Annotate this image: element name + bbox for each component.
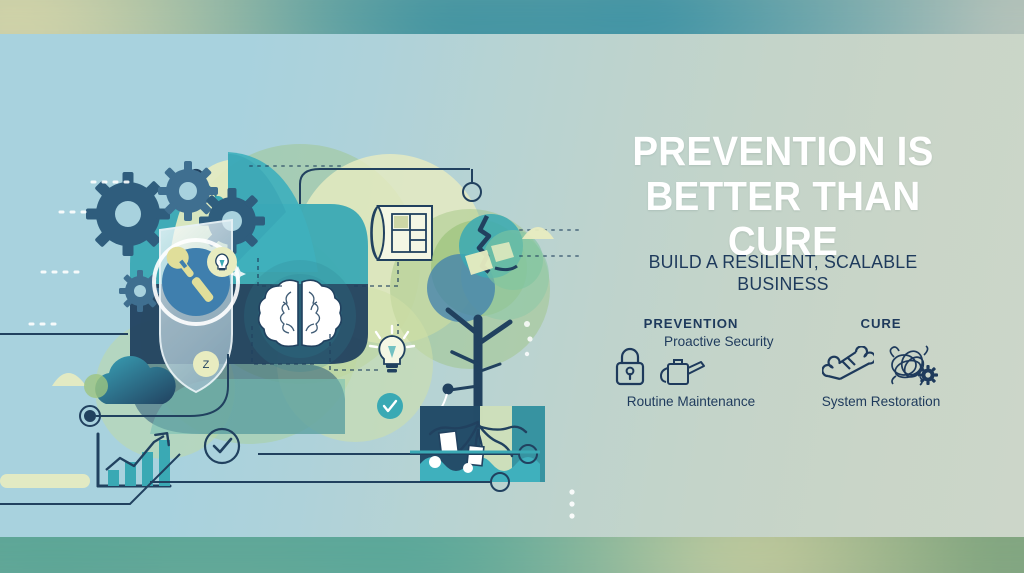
prevention-icon-row: Proactive Security [596,342,786,390]
page-title: PREVENTION IS BETTER THAN CURE [607,129,959,264]
prevention-caption-top: Proactive Security [664,334,774,349]
cure-icon-row [786,342,976,390]
column-prevention: PREVENTION [596,316,786,409]
column-title-cure: CURE [786,316,976,331]
tangle-gear-icon [884,345,940,387]
cure-caption-bottom: System Restoration [786,394,976,409]
benefit-columns: PREVENTION [596,316,976,409]
prevention-caption-bottom: Routine Maintenance [596,394,786,409]
padlock-icon [612,345,648,387]
page-subtitle: BUILD A RESILIENT, SCALABLE BUSINESS [603,251,962,295]
screenshot-canvas: Z [0,0,1024,573]
illustration-panel: Z [0,34,600,537]
bandaged-bone-icon [822,346,874,386]
watering-can-icon [658,355,706,389]
column-title-prevention: PREVENTION [596,316,786,331]
svg-text:Z: Z [203,359,210,371]
main-card: Z [0,34,1024,537]
column-cure: CURE [786,316,976,409]
text-panel: PREVENTION IS BETTER THAN CURE BUILD A R… [596,34,1024,537]
